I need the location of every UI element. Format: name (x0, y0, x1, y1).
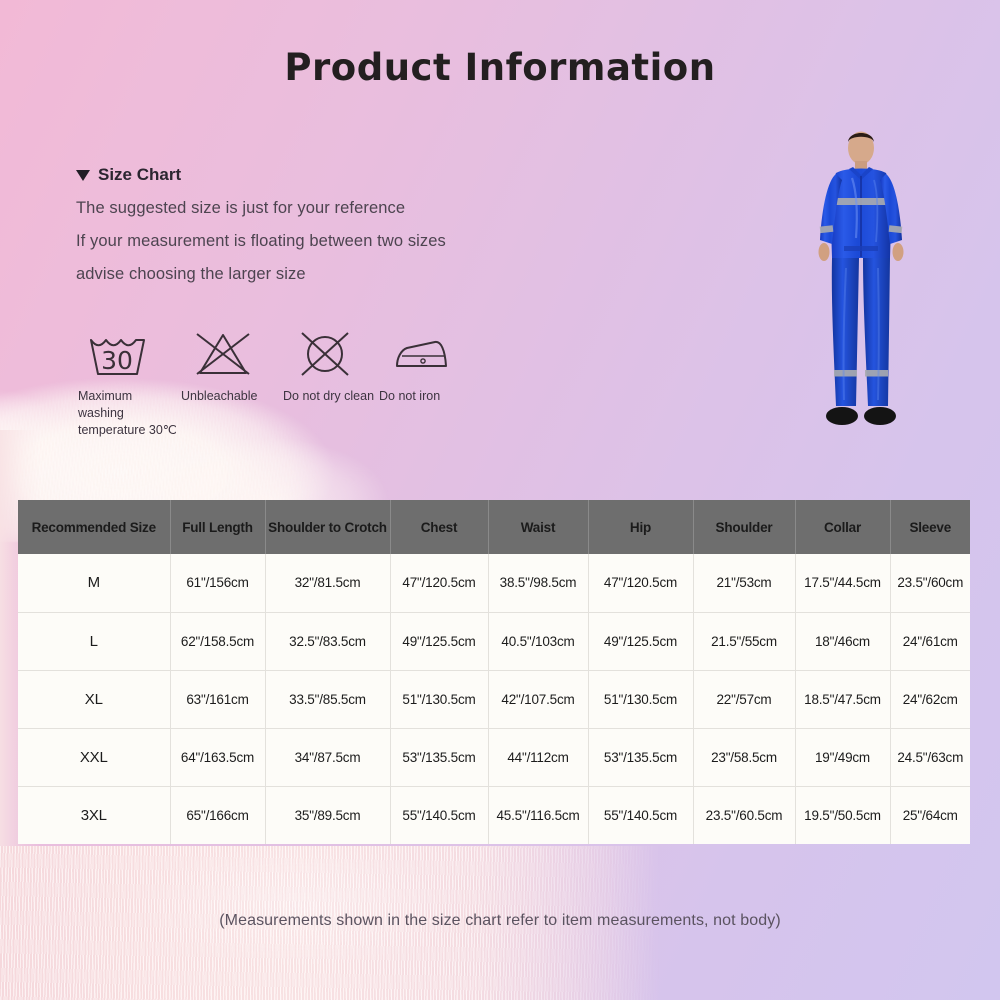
column-header-recommended-size: Recommended Size (18, 500, 170, 554)
cell-chest: 55"/140.5cm (390, 786, 488, 844)
wash-tub-30-icon: 30 (84, 328, 156, 380)
table-header-row: Recommended Size Full Length Shoulder to… (18, 500, 970, 554)
column-header-chest: Chest (390, 500, 488, 554)
cell-size: 3XL (18, 786, 170, 844)
cell-chest: 49"/125.5cm (390, 612, 488, 670)
column-header-sleeve: Sleeve (890, 500, 970, 554)
cell-shoulder: 21.5"/55cm (693, 612, 795, 670)
cell-full-length: 64"/163.5cm (170, 728, 265, 786)
cell-hip: 47"/120.5cm (588, 554, 693, 612)
page-title: Product Information (0, 46, 1000, 89)
cell-sleeve: 24"/61cm (890, 612, 970, 670)
column-header-shoulder-to-crotch: Shoulder to Crotch (265, 500, 390, 554)
column-header-hip: Hip (588, 500, 693, 554)
cell-sleeve: 23.5"/60cm (890, 554, 970, 612)
svg-text:30: 30 (101, 346, 133, 375)
cell-waist: 38.5"/98.5cm (488, 554, 588, 612)
cell-shoulder: 23"/58.5cm (693, 728, 795, 786)
size-chart-heading-label: Size Chart (98, 165, 181, 185)
cell-chest: 47"/120.5cm (390, 554, 488, 612)
cell-hip: 49"/125.5cm (588, 612, 693, 670)
column-header-waist: Waist (488, 500, 588, 554)
cell-shoulder-to-crotch: 34"/87.5cm (265, 728, 390, 786)
cell-full-length: 61"/156cm (170, 554, 265, 612)
product-information-page: Product Information Size Chart The sugge… (0, 0, 1000, 1000)
triangle-down-icon (76, 170, 90, 181)
size-note-line-2: If your measurement is floating between … (76, 232, 446, 251)
cell-size: XXL (18, 728, 170, 786)
table-row: M 61"/156cm 32"/81.5cm 47"/120.5cm 38.5"… (18, 554, 970, 612)
cell-collar: 17.5"/44.5cm (795, 554, 890, 612)
cell-waist: 44"/112cm (488, 728, 588, 786)
cell-collar: 19"/49cm (795, 728, 890, 786)
cell-chest: 53"/135.5cm (390, 728, 488, 786)
table-row: L 62"/158.5cm 32.5"/83.5cm 49"/125.5cm 4… (18, 612, 970, 670)
cell-collar: 18"/46cm (795, 612, 890, 670)
cell-waist: 40.5"/103cm (488, 612, 588, 670)
product-model-photo (766, 118, 956, 443)
cell-shoulder-to-crotch: 32.5"/83.5cm (265, 612, 390, 670)
care-label-iron: Do not iron (379, 388, 440, 405)
cell-size: L (18, 612, 170, 670)
cell-sleeve: 25"/64cm (890, 786, 970, 844)
care-item-wash: 30 Maximum washing temperature 30℃ (78, 328, 181, 439)
column-header-shoulder: Shoulder (693, 500, 795, 554)
cell-shoulder: 22"/57cm (693, 670, 795, 728)
cell-waist: 42"/107.5cm (488, 670, 588, 728)
cell-hip: 53"/135.5cm (588, 728, 693, 786)
no-iron-icon (385, 328, 457, 380)
no-bleach-triangle-icon (187, 328, 259, 380)
cell-sleeve: 24"/62cm (890, 670, 970, 728)
cell-collar: 18.5"/47.5cm (795, 670, 890, 728)
care-item-bleach: Unbleachable (181, 328, 283, 405)
cell-shoulder-to-crotch: 35"/89.5cm (265, 786, 390, 844)
size-note-line-1: The suggested size is just for your refe… (76, 199, 446, 218)
care-item-dry-clean: Do not dry clean (283, 328, 379, 405)
cell-full-length: 62"/158.5cm (170, 612, 265, 670)
cell-chest: 51"/130.5cm (390, 670, 488, 728)
cell-shoulder: 21"/53cm (693, 554, 795, 612)
cell-size: M (18, 554, 170, 612)
care-label-wash: Maximum washing temperature 30℃ (78, 388, 181, 439)
cell-hip: 55"/140.5cm (588, 786, 693, 844)
care-instructions-row: 30 Maximum washing temperature 30℃ Unble… (78, 328, 479, 439)
cell-size: XL (18, 670, 170, 728)
no-dry-clean-circle-icon (289, 328, 361, 380)
cell-full-length: 63"/161cm (170, 670, 265, 728)
cell-collar: 19.5"/50.5cm (795, 786, 890, 844)
column-header-collar: Collar (795, 500, 890, 554)
cell-hip: 51"/130.5cm (588, 670, 693, 728)
cell-shoulder-to-crotch: 33.5"/85.5cm (265, 670, 390, 728)
care-label-dry-clean: Do not dry clean (283, 388, 374, 405)
size-chart-heading[interactable]: Size Chart (76, 165, 446, 185)
table-row: 3XL 65"/166cm 35"/89.5cm 55"/140.5cm 45.… (18, 786, 970, 844)
cell-waist: 45.5"/116.5cm (488, 786, 588, 844)
care-label-bleach: Unbleachable (181, 388, 257, 405)
size-chart-table: Recommended Size Full Length Shoulder to… (18, 500, 970, 844)
size-chart-section: Size Chart The suggested size is just fo… (76, 165, 446, 284)
cell-full-length: 65"/166cm (170, 786, 265, 844)
cell-shoulder-to-crotch: 32"/81.5cm (265, 554, 390, 612)
column-header-full-length: Full Length (170, 500, 265, 554)
size-note-line-3: advise choosing the larger size (76, 265, 446, 284)
cell-shoulder: 23.5"/60.5cm (693, 786, 795, 844)
table-row: XL 63"/161cm 33.5"/85.5cm 51"/130.5cm 42… (18, 670, 970, 728)
measurement-disclaimer: (Measurements shown in the size chart re… (0, 912, 1000, 930)
table-row: XXL 64"/163.5cm 34"/87.5cm 53"/135.5cm 4… (18, 728, 970, 786)
care-item-iron: Do not iron (379, 328, 479, 405)
cell-sleeve: 24.5"/63cm (890, 728, 970, 786)
